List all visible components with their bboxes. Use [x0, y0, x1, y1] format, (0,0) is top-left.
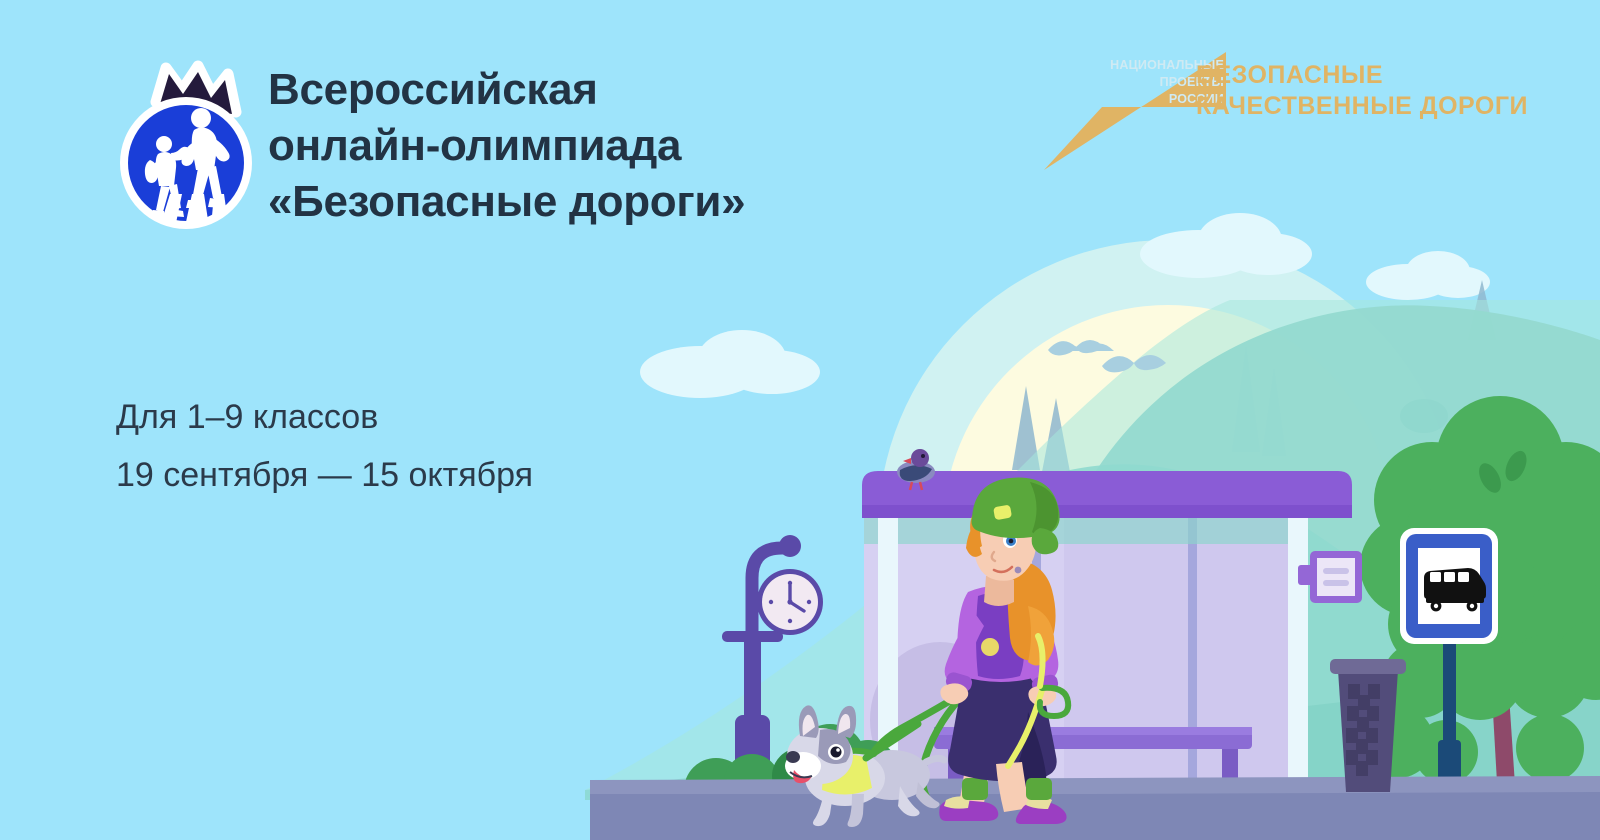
title-line-3: «Безопасные дороги»	[268, 174, 908, 230]
title-line-2: онлайн-олимпиада	[268, 118, 908, 174]
grades-line: Для 1–9 классов	[116, 388, 533, 446]
program-line-1: БЕЗОПАСНЫЕ	[1196, 60, 1528, 91]
event-details: Для 1–9 классов 19 сентября — 15 октября	[116, 388, 533, 504]
promo-banner: Всероссийская онлайн-олимпиада «Безопасн…	[0, 0, 1600, 840]
dates-line: 19 сентября — 15 октября	[116, 446, 533, 504]
shelter-pillar-right	[1288, 502, 1308, 790]
program-name: БЕЗОПАСНЫЕ КАЧЕСТВЕННЫЕ ДОРОГИ	[1196, 60, 1528, 122]
bus-shelter	[862, 471, 1352, 798]
program-line-2: КАЧЕСТВЕННЫЕ ДОРОГИ	[1196, 91, 1528, 122]
olympiad-logo	[112, 60, 260, 235]
title-line-1: Всероссийская	[268, 62, 908, 118]
pedestrian-crossing-emblem	[112, 60, 260, 235]
page-title: Всероссийская онлайн-олимпиада «Безопасн…	[268, 62, 908, 230]
